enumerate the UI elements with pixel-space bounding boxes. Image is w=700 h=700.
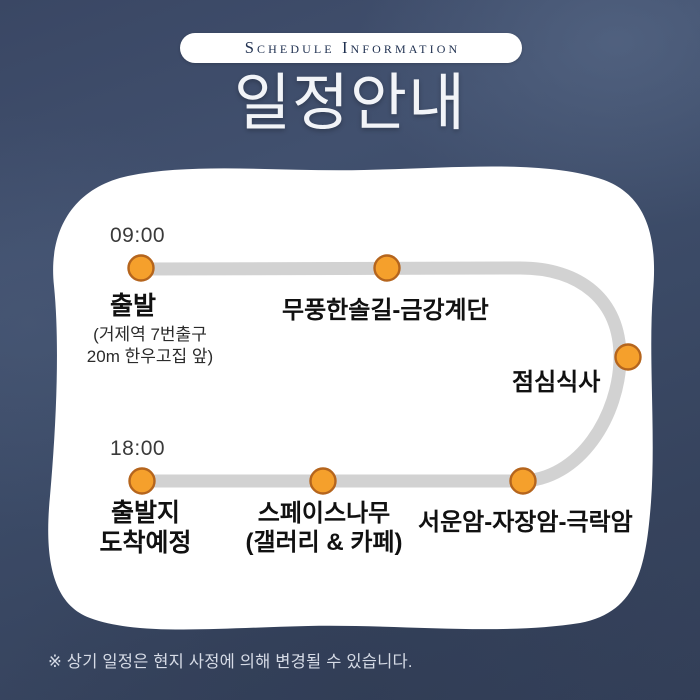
stop-label-lunch: 점심식사 <box>512 362 600 397</box>
badge-label: Schedule Information <box>242 38 460 58</box>
stop-sublabel-depart-line1: (거제역 7번출구 <box>70 324 230 346</box>
end-time-label: 18:00 <box>110 437 165 461</box>
stop-sublabel-depart-line2: 20m 한우고집 앞) <box>70 346 230 368</box>
stop-label-arrive: 출발지 도착예정 <box>88 498 203 558</box>
stop-label-arrive-line2: 도착예정 <box>88 528 203 558</box>
stop-sublabel-depart: (거제역 7번출구 20m 한우고집 앞) <box>70 324 230 368</box>
schedule-poster: Schedule Information 일정안내 09:00 출발 (거제역 … <box>0 0 700 700</box>
stop-label-space-namu-line1: 스페이스나무 <box>228 500 420 529</box>
stop-sublabel-space-namu: (갤러리 & 카페) <box>228 529 420 558</box>
stop-label-seounam: 서운암-자장암-극락암 <box>418 502 633 537</box>
start-time-label: 09:00 <box>110 224 165 248</box>
stop-label-space-namu: 스페이스나무 (갤러리 & 카페) <box>228 500 420 558</box>
page-title: 일정안내 <box>0 72 700 137</box>
stop-label-depart: 출발 <box>110 286 156 322</box>
stop-label-arrive-line1: 출발지 <box>88 498 203 528</box>
footer-note: ※ 상기 일정은 현지 사정에 의해 변경될 수 있습니다. <box>48 648 413 672</box>
stop-label-mupung-geumgang: 무풍한솔길-금강계단 <box>282 290 489 325</box>
schedule-information-badge: Schedule Information <box>180 33 522 63</box>
